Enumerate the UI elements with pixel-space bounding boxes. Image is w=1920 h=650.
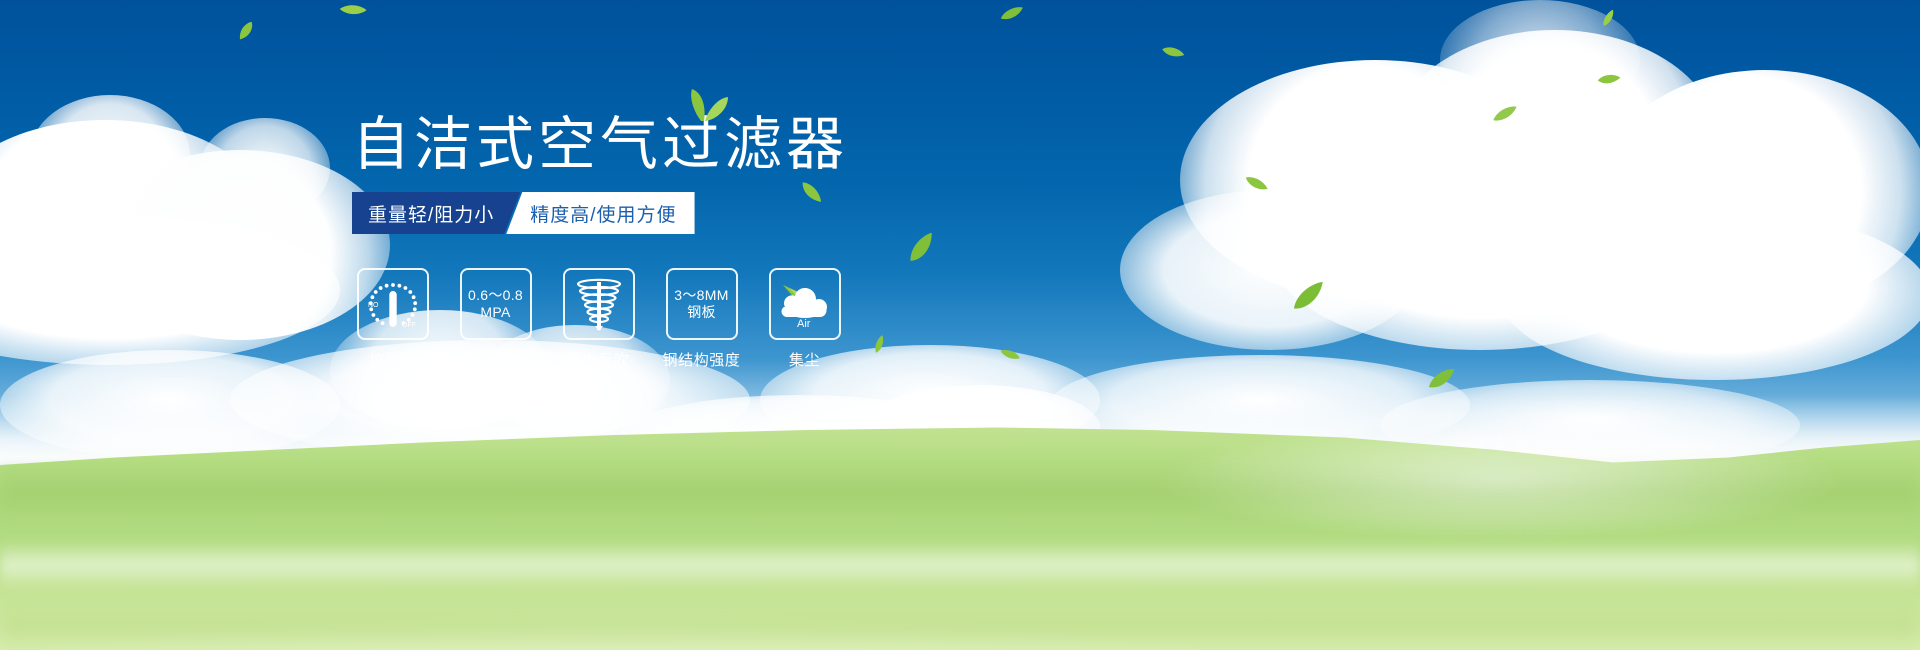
feature-item-blowback[interactable]: 强力反吹 bbox=[561, 268, 636, 370]
feature-label: 控制仪 bbox=[369, 349, 416, 370]
pressure-value-icon: 0.6～0.8 MPA bbox=[460, 268, 532, 340]
feature-icon-row: NO OFF 控制仪 0.6～0.8 MPA 二级过滤 bbox=[355, 268, 842, 370]
feature-label: 集尘 bbox=[789, 349, 820, 370]
cloud-right-lower bbox=[1500, 210, 1920, 380]
feature-label: 强力反吹 bbox=[567, 349, 629, 370]
leaf-sprig-icon bbox=[676, 88, 730, 127]
feature-tag-bar: 重量轻/阻力小 精度高/使用方便 bbox=[352, 192, 695, 234]
feature-item-steel-strength[interactable]: 3～8MM 钢板 钢结构强度 bbox=[664, 268, 739, 370]
steel-plate-text: 钢板 bbox=[687, 304, 716, 321]
feature-item-controller[interactable]: NO OFF 控制仪 bbox=[355, 268, 430, 370]
steel-thickness-text: 3～8MM bbox=[674, 287, 728, 304]
pressure-range-text: 0.6～0.8 bbox=[468, 287, 523, 304]
pressure-unit-text: MPA bbox=[480, 304, 510, 321]
feature-label: 钢结构强度 bbox=[663, 349, 741, 370]
cloud-air-icon: Air bbox=[769, 268, 841, 340]
product-hero-banner: 自洁式空气过滤器 重量轻/阻力小 精度高/使用方便 bbox=[0, 0, 1920, 650]
gauge-meter-icon: NO OFF bbox=[357, 268, 429, 340]
page-title: 自洁式空气过滤器 bbox=[352, 115, 848, 173]
feature-item-dust-collection[interactable]: Air 集尘 bbox=[767, 268, 842, 370]
tag-highprecision-easyuse[interactable]: 精度高/使用方便 bbox=[506, 192, 694, 234]
cloud-right-lower-left bbox=[1120, 190, 1420, 350]
grass-texture-band-1 bbox=[0, 455, 1920, 525]
grass-texture-band-3 bbox=[0, 600, 1920, 650]
feature-item-two-stage-filter[interactable]: 0.6～0.8 MPA 二级过滤 bbox=[458, 268, 533, 370]
air-text: Air bbox=[797, 318, 811, 329]
gauge-no-label: NO bbox=[368, 302, 379, 309]
grass-texture-band-2 bbox=[0, 540, 1920, 590]
feature-label: 二级过滤 bbox=[464, 349, 526, 370]
tag-lightweight-lowresistance[interactable]: 重量轻/阻力小 bbox=[352, 192, 520, 234]
spiral-blowback-icon bbox=[563, 268, 635, 340]
steel-plate-icon: 3～8MM 钢板 bbox=[666, 268, 738, 340]
gauge-off-label: OFF bbox=[402, 322, 416, 329]
